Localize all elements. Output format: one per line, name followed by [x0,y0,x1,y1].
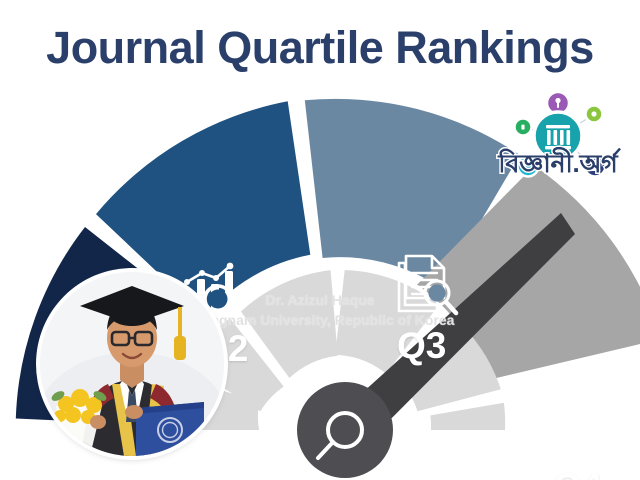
gauge-hub [297,382,393,478]
graduation-portrait-photo [40,272,224,456]
gear-chart-atom-icon [543,388,619,458]
gauge-label-q3: Q3 [397,325,446,367]
infographic-canvas: Journal Quartile Rankings [0,0,640,480]
gauge-inner-segment-5 [430,403,505,430]
page-title: Journal Quartile Rankings [0,24,640,71]
gauge-label-q4: Q4 [553,466,602,480]
logo-brand-text: বিজ্ঞানী.অর্গ [476,144,640,187]
brand-logo: বিজ্ঞানী.অর্গ বিজ্ঞানী.অর্গ [476,84,640,188]
document-magnifier-icon [392,253,462,319]
